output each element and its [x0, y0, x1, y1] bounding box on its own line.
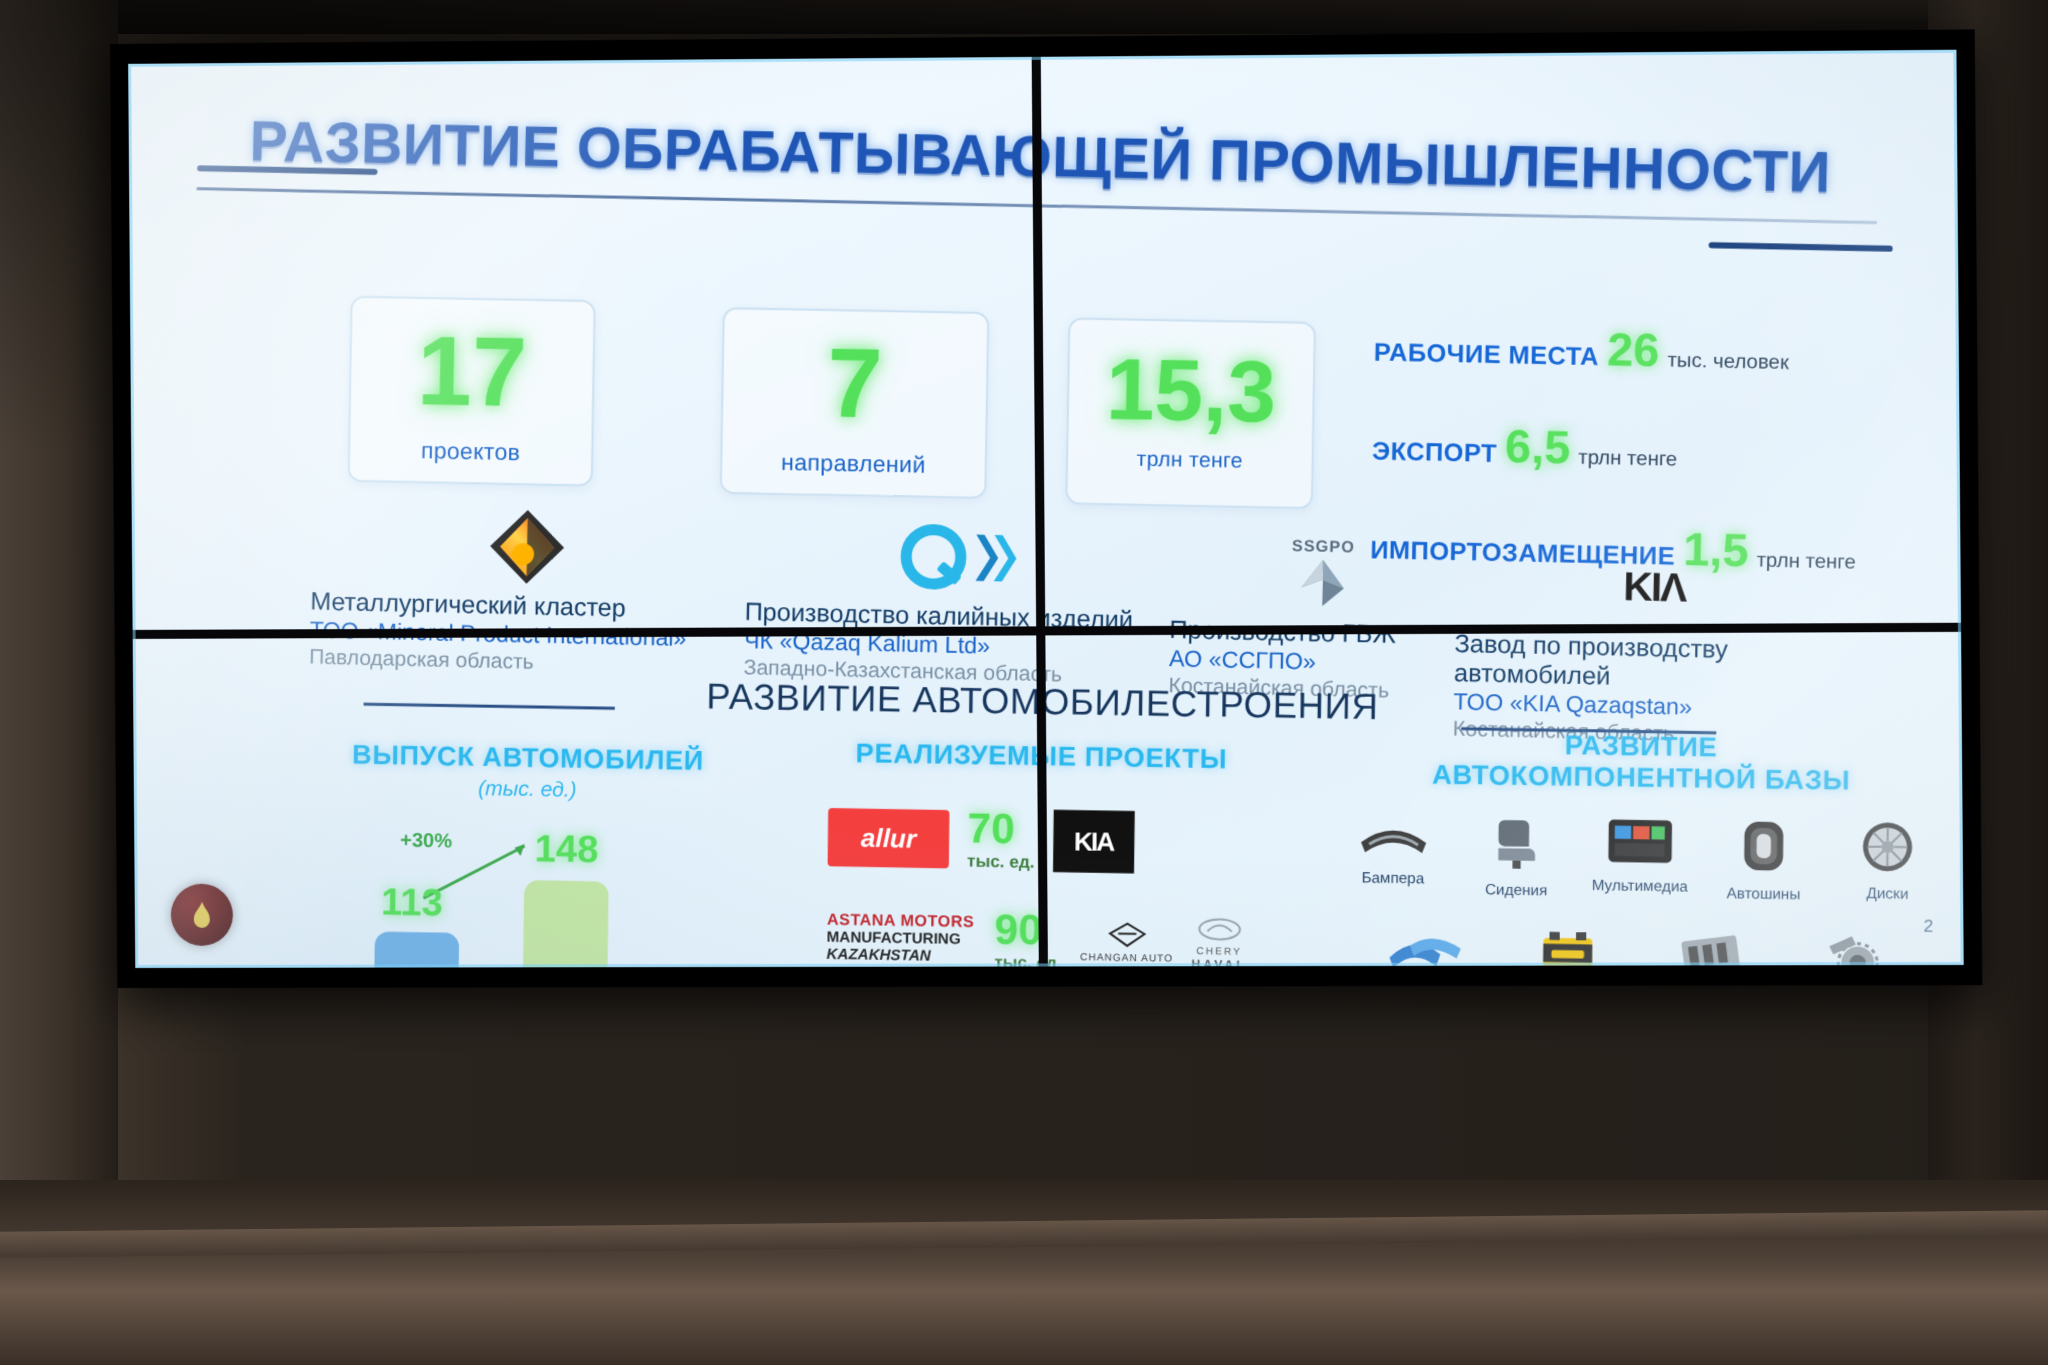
battery-icon [1537, 926, 1599, 968]
bumper-icon [1354, 812, 1432, 860]
kpi-card-investment: 15,3 трлн тенге [1065, 317, 1316, 509]
components-row-1: Бампера Сидения [1334, 812, 1947, 906]
tire-icon [1738, 817, 1790, 874]
kpi-card-projects: 17 проектов [348, 296, 596, 487]
chery-haval-logo: CHERY HAVAL [1191, 917, 1247, 968]
astana-motors-logo: ASTANA MOTORS MANUFACTURING KAZAKHSTAN [826, 912, 976, 966]
emblem-badge [171, 883, 234, 946]
component-label: Бампера [1334, 869, 1451, 888]
changan-emblem-icon [1105, 921, 1148, 948]
slide-bottom-section: РАЗВИТИЕ АВТОМОБИЛЕСТРОЕНИЯ ВЫПУСК АВТОМ… [133, 629, 1964, 968]
chart-heading: ВЫПУСК АВТОМОБИЛЕЙ [317, 739, 740, 778]
kpi-caption: трлн тенге [1068, 446, 1312, 475]
component-gear-reducer: Механический редуктор [1784, 930, 1922, 968]
components-row-2: Пластиковые детали Аккумуляторы [1333, 923, 1946, 968]
stat-label: ЭКСПОРТ [1372, 437, 1497, 468]
section-title: РАЗВИТИЕ АВТОМОБИЛЕСТРОЕНИЯ [133, 667, 1962, 738]
page-number: 2 [1923, 916, 1933, 936]
component-plastic-parts: Пластиковые детали [1357, 923, 1494, 968]
title-block: РАЗВИТИЕ ОБРАБАТЫВАЮЩЕЙ ПРОМЫШЛЕННОСТИ [128, 98, 1956, 255]
bar-2022 [373, 931, 459, 968]
astana-amount-unit: тыс. ед. [994, 953, 1062, 968]
component-wheel-disc: Диски [1828, 819, 1947, 906]
bar-value-2023: 148 [534, 828, 598, 872]
component-label: Сидения [1457, 881, 1575, 900]
wheel-disc-icon [1860, 819, 1916, 874]
kpi-value: 17 [351, 320, 594, 423]
changan-auto-logo: CHANGAN AUTO [1080, 921, 1174, 965]
stat-unit: тыс. человек [1667, 349, 1789, 374]
stat-label: РАБОЧИЕ МЕСТА [1374, 338, 1600, 371]
stat-unit: трлн тенге [1578, 447, 1677, 471]
chart-units: (тыс. ед.) [316, 774, 739, 806]
component-bumper: Бампера [1334, 812, 1452, 899]
auto-components-block: РАЗВИТИЕ АВТОКОМПОНЕНТНОЙ БАЗЫ Бампера [1333, 727, 1948, 968]
emblem-icon [185, 898, 219, 933]
kpi-caption: направлений [722, 448, 985, 480]
stat-value: 26 [1607, 323, 1660, 377]
component-multimedia: Мультимедиа [1581, 815, 1699, 902]
bar-value-2022: 113 [381, 881, 443, 925]
component-label: Диски [1828, 884, 1946, 903]
astana-amount-wrap: 90 тыс. ед. [994, 908, 1062, 968]
bar-chart: +30% 113 148 2022 г. 2023 г. [313, 818, 739, 968]
allur-logo: allur [828, 808, 950, 868]
component-cylinder-head: Головка блока цилиндров [1641, 927, 1778, 968]
stat-value: 6,5 [1505, 420, 1571, 474]
qazaq-kalium-logo [745, 508, 1171, 608]
kia-logo-text: KIA [1074, 826, 1114, 858]
kpi-value: 15,3 [1069, 346, 1314, 437]
astana-amount: 90 [994, 905, 1042, 953]
car-seat-icon [1488, 814, 1546, 871]
cylinder-head-icon [1676, 928, 1744, 968]
component-battery: Аккумуляторы [1499, 925, 1636, 968]
svg-text:SSGPO: SSGPO [1292, 538, 1355, 556]
wall-bottom [0, 1180, 2048, 1365]
component-label: Мультимедиа [1581, 877, 1699, 896]
kpi-value: 7 [723, 331, 987, 434]
kpi-card-directions: 7 направлений [720, 307, 990, 499]
chery-emblem-icon [1197, 917, 1242, 942]
kpi-caption: проектов [350, 436, 592, 468]
stat-export: ЭКСПОРТ6,5трлн тенге [1372, 416, 1945, 482]
svg-text:KIΛ: KIΛ [1623, 565, 1688, 611]
allur-amount: 70 [967, 804, 1015, 852]
video-wall-bezel: РАЗВИТИЕ ОБРАБАТЫВАЮЩЕЙ ПРОМЫШЛЕННОСТИ 1… [110, 29, 1982, 988]
mineral-product-international-logo [310, 497, 744, 597]
kia-logo-dark: KIA [1053, 810, 1135, 874]
allur-amount-wrap: 70 тыс. ед. [967, 807, 1035, 872]
component-label: Автошины [1705, 885, 1823, 904]
component-seat: Сидения [1457, 813, 1575, 900]
plastic-parts-icon [1383, 923, 1469, 968]
gear-reducer-icon [1821, 930, 1885, 968]
car-output-chart-block: ВЫПУСК АВТОМОБИЛЕЙ (тыс. ед.) +30% 113 1… [313, 739, 740, 968]
bar-2023 [522, 880, 609, 968]
allur-logo-text: allur [861, 822, 917, 854]
ssgpo-logo: SSGPO [1170, 525, 1476, 622]
title-rule-right [1709, 242, 1893, 252]
stat-jobs: РАБОЧИЕ МЕСТА26тыс. человек [1374, 317, 1947, 383]
video-wall-screens: РАЗВИТИЕ ОБРАБАТЫВАЮЩЕЙ ПРОМЫШЛЕННОСТИ 1… [128, 50, 1964, 968]
component-tire: Автошины [1705, 817, 1824, 904]
multimedia-icon [1606, 815, 1674, 867]
allur-amount-unit: тыс. ед. [967, 852, 1035, 873]
